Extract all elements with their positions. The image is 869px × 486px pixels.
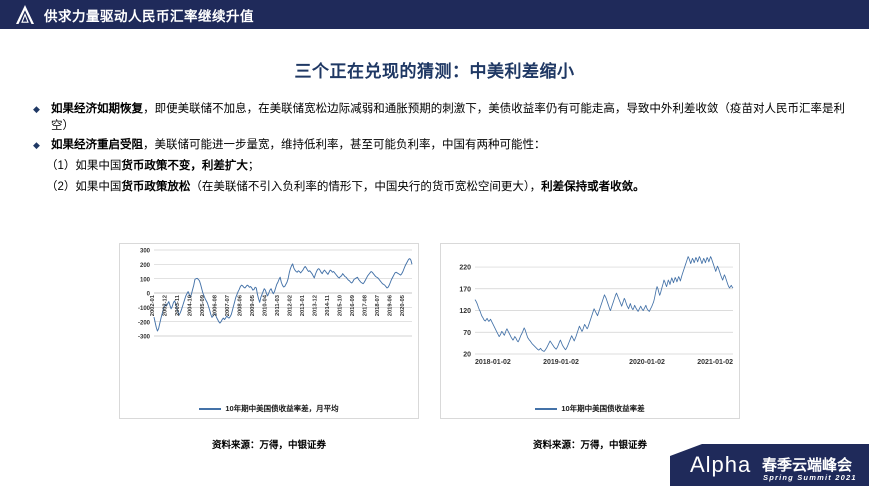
svg-text:2003-11: 2003-11 <box>175 294 181 316</box>
header-title: 供求力量驱动人民币汇率继续升值 <box>44 5 254 25</box>
svg-text:2009-05: 2009-05 <box>250 294 256 316</box>
bullet-item-2-text: 如果经济重启受阻，美联储可能进一步量宽，维持低利率，甚至可能负利率，中国有两种可… <box>51 137 845 154</box>
svg-text:2019-01-02: 2019-01-02 <box>543 359 579 366</box>
svg-text:2007-07: 2007-07 <box>225 295 231 316</box>
chart-right-legend: 10年期中美国债收益率差 <box>441 403 739 414</box>
svg-text:-100: -100 <box>138 306 151 312</box>
chart-left: -300-200-10001002003002002-012002-122003… <box>119 243 419 419</box>
source-note-left: 资料来源：万得，中银证券 <box>119 437 419 451</box>
triangle-a-icon <box>14 4 36 25</box>
numbered-2-middle: （在美联储不引入负利率的情形下，中国央行的货币宽松空间更大）， <box>190 181 541 193</box>
chart-left-svg: -300-200-10001002003002002-012002-122003… <box>120 244 420 394</box>
svg-text:70: 70 <box>463 330 471 337</box>
chart-right-plot: 20701201702202018-01-022019-01-022020-01… <box>441 244 739 418</box>
corner-logo: Alpha 春季云端峰会 Spring Summit 2021 <box>670 438 869 486</box>
numbered-1-bold: 货币政策不变，利差扩大 <box>121 160 248 172</box>
bullet-1-rest: ，即便美联储不加息，在美联储宽松边际减弱和通胀预期的刺激下，美债收益率仍有可能走… <box>51 103 845 132</box>
numbered-item-2: （2）如果中国货币政策放松（在美联储不引入负利率的情形下，中国央行的货币宽松空间… <box>46 178 845 196</box>
svg-text:2018-01-02: 2018-01-02 <box>475 359 511 366</box>
svg-text:100: 100 <box>140 277 151 283</box>
diamond-bullet-icon: ◆ <box>30 101 51 118</box>
numbered-2-bold-tail: 利差保持或者收敛。 <box>541 181 645 193</box>
page-title: 三个正在兑现的猜测：中美利差缩小 <box>0 57 869 82</box>
svg-text:2016-09: 2016-09 <box>350 294 356 316</box>
summit-english-text: Spring Summit 2021 <box>763 473 857 482</box>
svg-text:2014-11: 2014-11 <box>325 294 331 316</box>
summit-chinese-text: 春季云端峰会 <box>762 456 852 474</box>
svg-text:300: 300 <box>140 249 151 255</box>
bullet-1-bold: 如果经济如期恢复 <box>51 103 143 115</box>
svg-text:-300: -300 <box>138 335 151 341</box>
numbered-item-1: （1）如果中国货币政策不变，利差扩大； <box>46 157 845 175</box>
chart-left-legend: 10年期中美国债收益率差，月平均 <box>120 403 418 414</box>
numbered-1-suffix: ； <box>248 160 260 172</box>
numbered-2-prefix: （2）如果中国 <box>46 181 121 193</box>
svg-text:2002-12: 2002-12 <box>163 295 169 316</box>
bullet-2-bold: 如果经济重启受阻 <box>51 139 143 151</box>
svg-text:2021-01-02: 2021-01-02 <box>697 359 733 366</box>
bullet-item-1: ◆ 如果经济如期恢复，即便美联储不加息，在美联储宽松边际减弱和通胀预期的刺激下，… <box>30 101 845 135</box>
legend-label: 10年期中美国债收益率差，月平均 <box>225 403 338 414</box>
svg-text:2015-10: 2015-10 <box>338 295 344 316</box>
diamond-bullet-icon: ◆ <box>30 137 51 154</box>
alpha-wordmark-text: Alpha <box>690 452 751 477</box>
bullet-2-rest: ，美联储可能进一步量宽，维持低利率，甚至可能负利率，中国有两种可能性： <box>143 139 546 151</box>
chart-right: 20701201702202018-01-022019-01-022020-01… <box>440 243 740 419</box>
legend-label: 10年期中美国债收益率差 <box>561 403 644 414</box>
svg-text:2008-06: 2008-06 <box>238 294 244 316</box>
svg-text:2020-01-02: 2020-01-02 <box>629 359 665 366</box>
svg-text:2002-01: 2002-01 <box>150 294 156 316</box>
svg-text:-200: -200 <box>138 320 151 326</box>
body-text: ◆ 如果经济如期恢复，即便美联储不加息，在美联储宽松边际减弱和通胀预期的刺激下，… <box>30 101 845 199</box>
svg-text:220: 220 <box>459 265 471 272</box>
bullet-item-2: ◆ 如果经济重启受阻，美联储可能进一步量宽，维持低利率，甚至可能负利率，中国有两… <box>30 137 845 154</box>
svg-text:120: 120 <box>459 308 471 315</box>
numbered-2-bold: 货币政策放松 <box>121 181 190 193</box>
svg-text:200: 200 <box>140 263 151 269</box>
svg-text:2011-03: 2011-03 <box>275 294 281 316</box>
legend-swatch-line <box>535 408 557 410</box>
chart-left-plot: -300-200-10001002003002002-012002-122003… <box>120 244 418 418</box>
svg-text:2017-08: 2017-08 <box>363 294 369 316</box>
svg-text:2020-05: 2020-05 <box>400 294 406 316</box>
corner-logo-svg: Alpha 春季云端峰会 Spring Summit 2021 <box>670 438 869 486</box>
svg-text:2004-10: 2004-10 <box>188 295 194 316</box>
legend-swatch-line <box>199 408 221 410</box>
svg-text:2012-02: 2012-02 <box>288 295 294 316</box>
svg-text:2005-09: 2005-09 <box>200 294 206 316</box>
svg-text:170: 170 <box>459 286 471 293</box>
chart-right-svg: 20701201702202018-01-022019-01-022020-01… <box>441 244 741 394</box>
svg-text:2013-12: 2013-12 <box>313 295 319 316</box>
svg-text:20: 20 <box>463 352 471 359</box>
svg-text:2013-01: 2013-01 <box>300 294 306 316</box>
numbered-1-prefix: （1）如果中国 <box>46 160 121 172</box>
svg-text:2006-08: 2006-08 <box>213 294 219 316</box>
svg-text:2019-06: 2019-06 <box>388 294 394 316</box>
header-bar: 供求力量驱动人民币汇率继续升值 <box>0 0 869 29</box>
bullet-item-1-text: 如果经济如期恢复，即便美联储不加息，在美联储宽松边际减弱和通胀预期的刺激下，美债… <box>51 101 845 135</box>
svg-text:2010-04: 2010-04 <box>263 294 269 316</box>
svg-text:2018-07: 2018-07 <box>375 295 381 316</box>
